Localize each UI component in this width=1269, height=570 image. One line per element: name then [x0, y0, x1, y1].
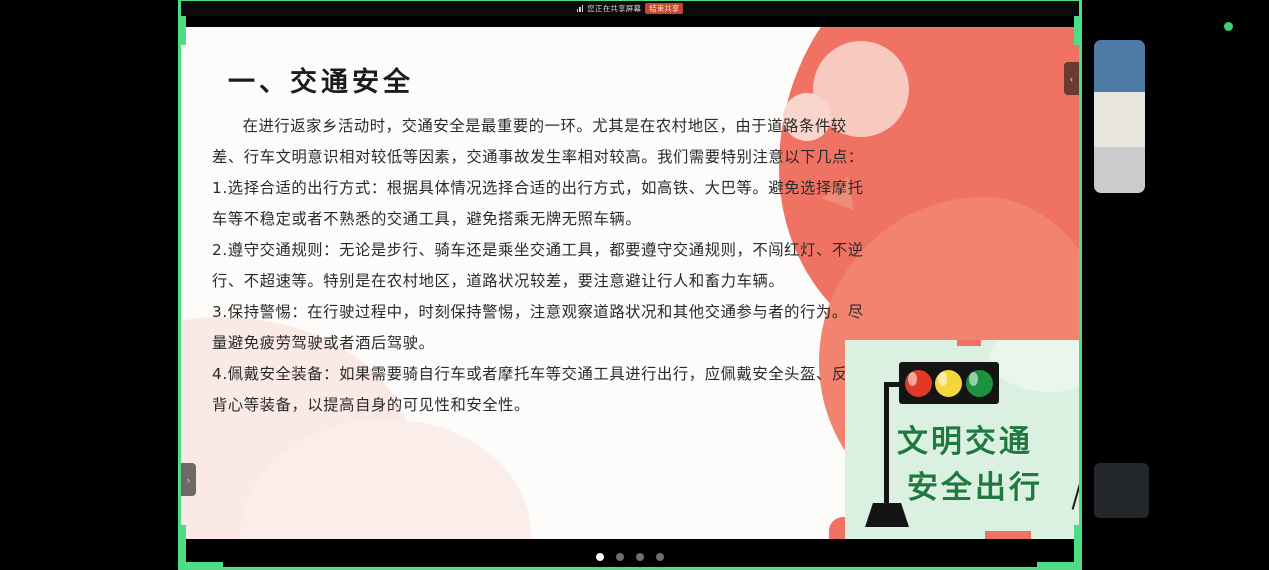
slide-paragraph: 2.遵守交通规则：无论是步行、骑车还是乘坐交通工具，都要遵守交通规则，不闯红灯、… [212, 235, 872, 297]
chevron-right-icon[interactable]: › [181, 463, 196, 496]
traffic-light-pole [884, 382, 889, 512]
traffic-lamp-yellow-icon [935, 370, 962, 397]
poster-headline-line1: 文明交通 [897, 416, 1033, 461]
slide-paragraph: 在进行返家乡活动时，交通安全是最重要的一环。尤其是在农村地区，由于道路条件较差、… [212, 111, 872, 173]
pagination[interactable] [181, 553, 1079, 561]
participant-tile-segment [1094, 92, 1145, 147]
traffic-light-base [865, 503, 909, 527]
participant-video-tile-secondary[interactable] [1094, 463, 1149, 518]
traffic-light-icon [899, 362, 999, 404]
participant-video-tile[interactable] [1094, 40, 1145, 193]
stop-share-button[interactable]: 结束共享 [645, 3, 683, 14]
slide-paragraph: 1.选择合适的出行方式：根据具体情况选择合适的出行方式，如高铁、大巴等。避免选择… [212, 173, 872, 235]
slide-body-text: 在进行返家乡活动时，交通安全是最重要的一环。尤其是在农村地区，由于道路条件较差、… [212, 111, 872, 421]
traffic-lamp-red-icon [905, 370, 932, 397]
presentation-slide[interactable]: 一、交通安全 在进行返家乡活动时，交通安全是最重要的一环。尤其是在农村地区，由于… [181, 27, 1079, 539]
participant-tile-segment [1094, 147, 1145, 193]
chevron-left-icon[interactable]: ‹ [1064, 62, 1079, 95]
poster-top-stripe [957, 340, 981, 346]
participant-tile-segment [1094, 40, 1145, 92]
shared-screen-stage: 一、交通安全 在进行返家乡活动时，交通安全是最重要的一环。尤其是在农村地区，由于… [181, 0, 1079, 570]
screen-share-bar: 您正在共享屏幕 结束共享 [181, 1, 1079, 16]
traffic-safety-poster: 文明交通 安全出行 [845, 340, 1079, 539]
share-status-text: 您正在共享屏幕 [587, 5, 641, 13]
pagination-dot[interactable] [596, 553, 604, 561]
pagination-dot[interactable] [616, 553, 624, 561]
pagination-dot[interactable] [656, 553, 664, 561]
poster-cloud-shape [990, 340, 1079, 392]
traffic-lamp-green-icon [966, 370, 993, 397]
participant-rail [1082, 0, 1269, 570]
pagination-dot[interactable] [636, 553, 644, 561]
signal-bars-icon [577, 5, 584, 12]
slide-paragraph: 4.佩戴安全装备：如果需要骑自行车或者摩托车等交通工具进行出行，应佩戴安全头盔、… [212, 359, 872, 421]
status-indicator-dot [1224, 22, 1233, 31]
slide-paragraph: 3.保持警惕：在行驶过程中，时刻保持警惕，注意观察道路状况和其他交通参与者的行为… [212, 297, 872, 359]
poster-bottom-stripe [985, 531, 1031, 539]
page-title: 一、交通安全 [228, 60, 414, 99]
poster-headline-line2: 安全出行 [907, 462, 1043, 507]
